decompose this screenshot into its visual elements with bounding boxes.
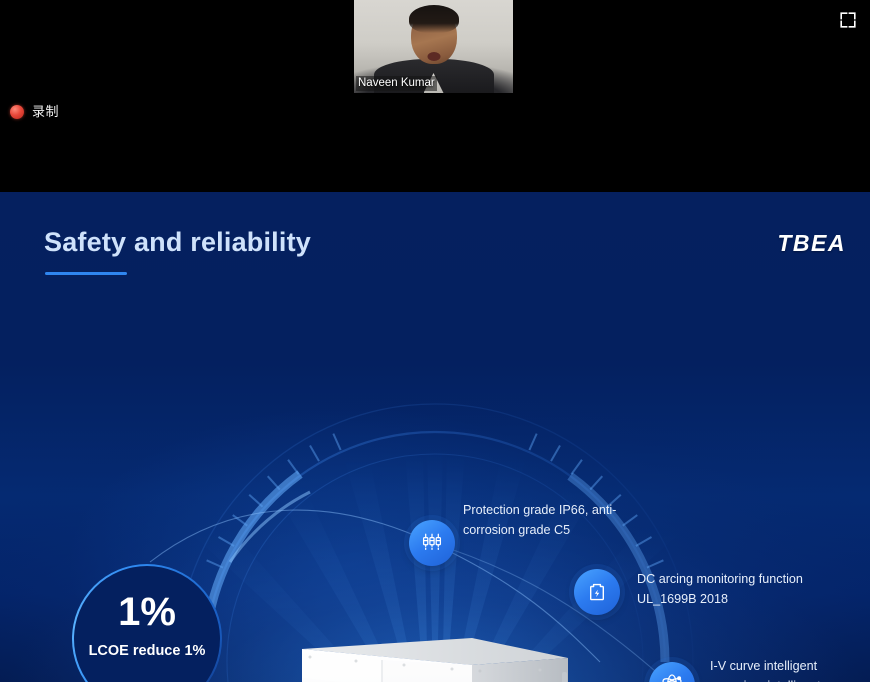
- screen-root: Naveen Kumar 录制: [0, 0, 870, 682]
- kpi-caption: LCOE reduce 1%: [72, 642, 222, 660]
- tbea-brand-logo: TBEA: [777, 230, 846, 257]
- recording-indicator: 录制: [10, 105, 59, 119]
- page-title: Safety and reliability: [44, 227, 311, 258]
- connector-terminals-icon: [409, 520, 455, 566]
- title-underline-rule: [45, 272, 127, 275]
- battery-bolt-icon: [574, 569, 620, 615]
- atom-monitoring-icon: [649, 662, 695, 682]
- feature-label-protection: Protection grade IP66, anti-corrosion gr…: [463, 500, 631, 540]
- video-conference-stage: Naveen Kumar 录制: [0, 0, 870, 192]
- record-dot-icon: [10, 105, 24, 119]
- kpi-value: 1%: [72, 590, 222, 634]
- presentation-slide: Safety and reliability TBEA 1% LCOE redu…: [0, 192, 870, 682]
- participant-mouth: [427, 52, 440, 61]
- fullscreen-expand-icon[interactable]: [838, 10, 858, 30]
- feature-label-iv-curve: I-V curve intelligent scanning, intellig…: [710, 656, 870, 682]
- participant-hair: [409, 5, 459, 33]
- participant-video-tile[interactable]: Naveen Kumar: [354, 0, 513, 93]
- participant-name-label: Naveen Kumar: [356, 76, 437, 91]
- recording-label: 录制: [32, 105, 59, 119]
- kpi-ring-widget: 1% LCOE reduce 1%: [72, 564, 222, 682]
- feature-label-dc-arcing: DC arcing monitoring function UL_1699B 2…: [637, 569, 827, 609]
- solar-inverter-product-image: TBEA: [294, 636, 578, 682]
